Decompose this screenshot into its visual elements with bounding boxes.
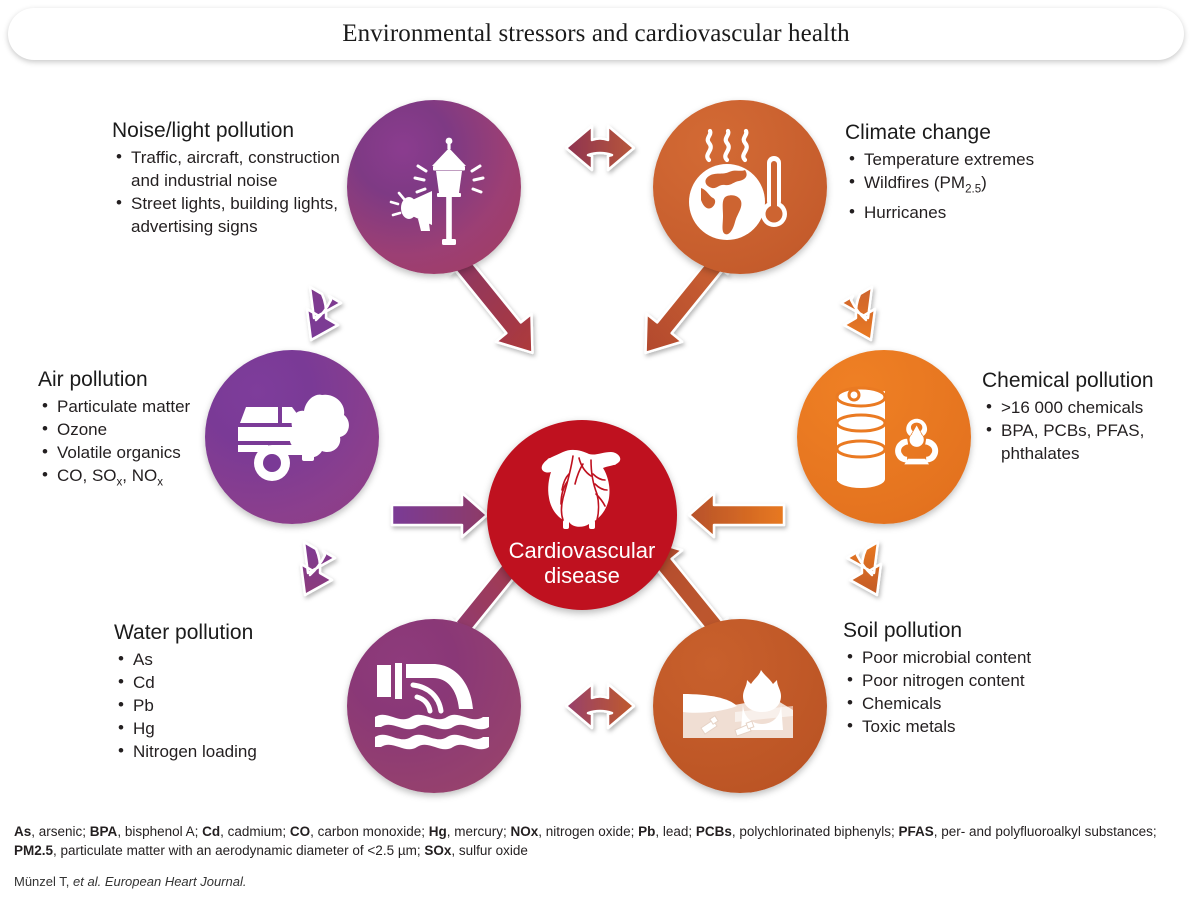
list-item: Hg [133, 717, 314, 740]
arrow-chem-soil [847, 542, 881, 595]
bullet-list-noise: Traffic, aircraft, construction and indu… [112, 146, 360, 238]
heading-water-pollution: Water pollution [114, 620, 314, 645]
block-noise-light-pollution: Noise/light pollution Traffic, aircraft,… [112, 118, 360, 238]
block-climate-change: Climate change Temperature extremes Wild… [845, 120, 1095, 224]
list-item: Poor microbial content [862, 646, 1058, 669]
block-water-pollution: Water pollution As Cd Pb Hg Nitrogen loa… [114, 620, 314, 763]
car-exhaust-icon [230, 383, 354, 491]
list-item: Street lights, building lights, advertis… [131, 192, 360, 238]
citation-author: Münzel T, [14, 874, 69, 889]
footnotes: As, arsenic; BPA, bisphenol A; Cd, cadmi… [14, 822, 1186, 889]
heading-noise-light-pollution: Noise/light pollution [112, 118, 360, 143]
list-item: Pb [133, 694, 314, 717]
heading-air-pollution: Air pollution [38, 367, 238, 392]
arrow-noise-air [307, 287, 341, 340]
title-bar: Environmental stressors and cardiovascul… [8, 8, 1184, 60]
chemical-barrel-biohazard-icon [823, 381, 945, 493]
arrow-climate-to-center [645, 256, 729, 357]
arrow-climate-chem [841, 287, 875, 340]
arrow-noise-to-center [449, 256, 533, 357]
arrow-air-water [301, 542, 335, 595]
arrow-air-to-center [392, 493, 487, 537]
hot-globe-thermometer-icon [679, 128, 801, 246]
list-item: Nitrogen loading [133, 740, 314, 763]
heading-chemical-pollution: Chemical pollution [982, 368, 1197, 393]
node-climate-change[interactable] [653, 100, 827, 274]
streetlamp-megaphone-icon [374, 127, 494, 247]
heart-icon [533, 444, 631, 536]
bullet-list-water: As Cd Pb Hg Nitrogen loading [114, 648, 314, 763]
node-noise-light-pollution[interactable] [347, 100, 521, 274]
list-item: Traffic, aircraft, construction and indu… [131, 146, 360, 192]
node-cardiovascular-disease[interactable]: Cardiovascular disease [487, 420, 677, 610]
list-item: >16 000 chemicals [1001, 396, 1197, 419]
citation-source: et al. European Heart Journal. [73, 874, 246, 889]
list-item: Toxic metals [862, 715, 1058, 738]
node-chemical-pollution[interactable] [797, 350, 971, 524]
arrow-chem-to-center [689, 493, 784, 537]
list-item: Volatile organics [57, 441, 238, 464]
arrow-water-soil [566, 684, 634, 728]
list-item: BPA, PCBs, PFAS, phthalates [1001, 419, 1197, 465]
list-item: Poor nitrogen content [862, 669, 1058, 692]
list-item: CO, SOx, NOx [57, 464, 238, 494]
list-item: Particulate matter [57, 395, 238, 418]
center-label: Cardiovascular disease [509, 538, 656, 588]
list-item: Cd [133, 671, 314, 694]
bullet-list-chem: >16 000 chemicals BPA, PCBs, PFAS, phtha… [982, 396, 1197, 465]
bullet-list-soil: Poor microbial content Poor nitrogen con… [843, 646, 1058, 738]
block-air-pollution: Air pollution Particulate matter Ozone V… [38, 367, 238, 494]
bullet-list-climate: Temperature extremes Wildfires (PM2.5) H… [845, 148, 1095, 224]
node-water-pollution[interactable] [347, 619, 521, 793]
wastewater-pipe-icon [371, 653, 497, 759]
block-soil-pollution: Soil pollution Poor microbial content Po… [843, 618, 1058, 738]
diagram-canvas: Noise/light pollution Traffic, aircraft,… [0, 72, 1200, 812]
abbreviations-text: As, arsenic; BPA, bisphenol A; Cd, cadmi… [14, 822, 1186, 860]
node-soil-pollution[interactable] [653, 619, 827, 793]
landfill-waste-icon [677, 654, 803, 758]
list-item: Wildfires (PM2.5) [864, 171, 1095, 201]
heading-soil-pollution: Soil pollution [843, 618, 1058, 643]
list-item: Hurricanes [864, 201, 1095, 224]
bullet-list-air: Particulate matter Ozone Volatile organi… [38, 395, 238, 494]
heading-climate-change: Climate change [845, 120, 1095, 145]
block-chemical-pollution: Chemical pollution >16 000 chemicals BPA… [982, 368, 1197, 465]
list-item: Ozone [57, 418, 238, 441]
list-item: As [133, 648, 314, 671]
arrow-noise-climate [566, 126, 634, 170]
page-title: Environmental stressors and cardiovascul… [342, 20, 850, 48]
list-item: Temperature extremes [864, 148, 1095, 171]
citation: Münzel T, et al. European Heart Journal. [14, 874, 1186, 889]
list-item: Chemicals [862, 692, 1058, 715]
